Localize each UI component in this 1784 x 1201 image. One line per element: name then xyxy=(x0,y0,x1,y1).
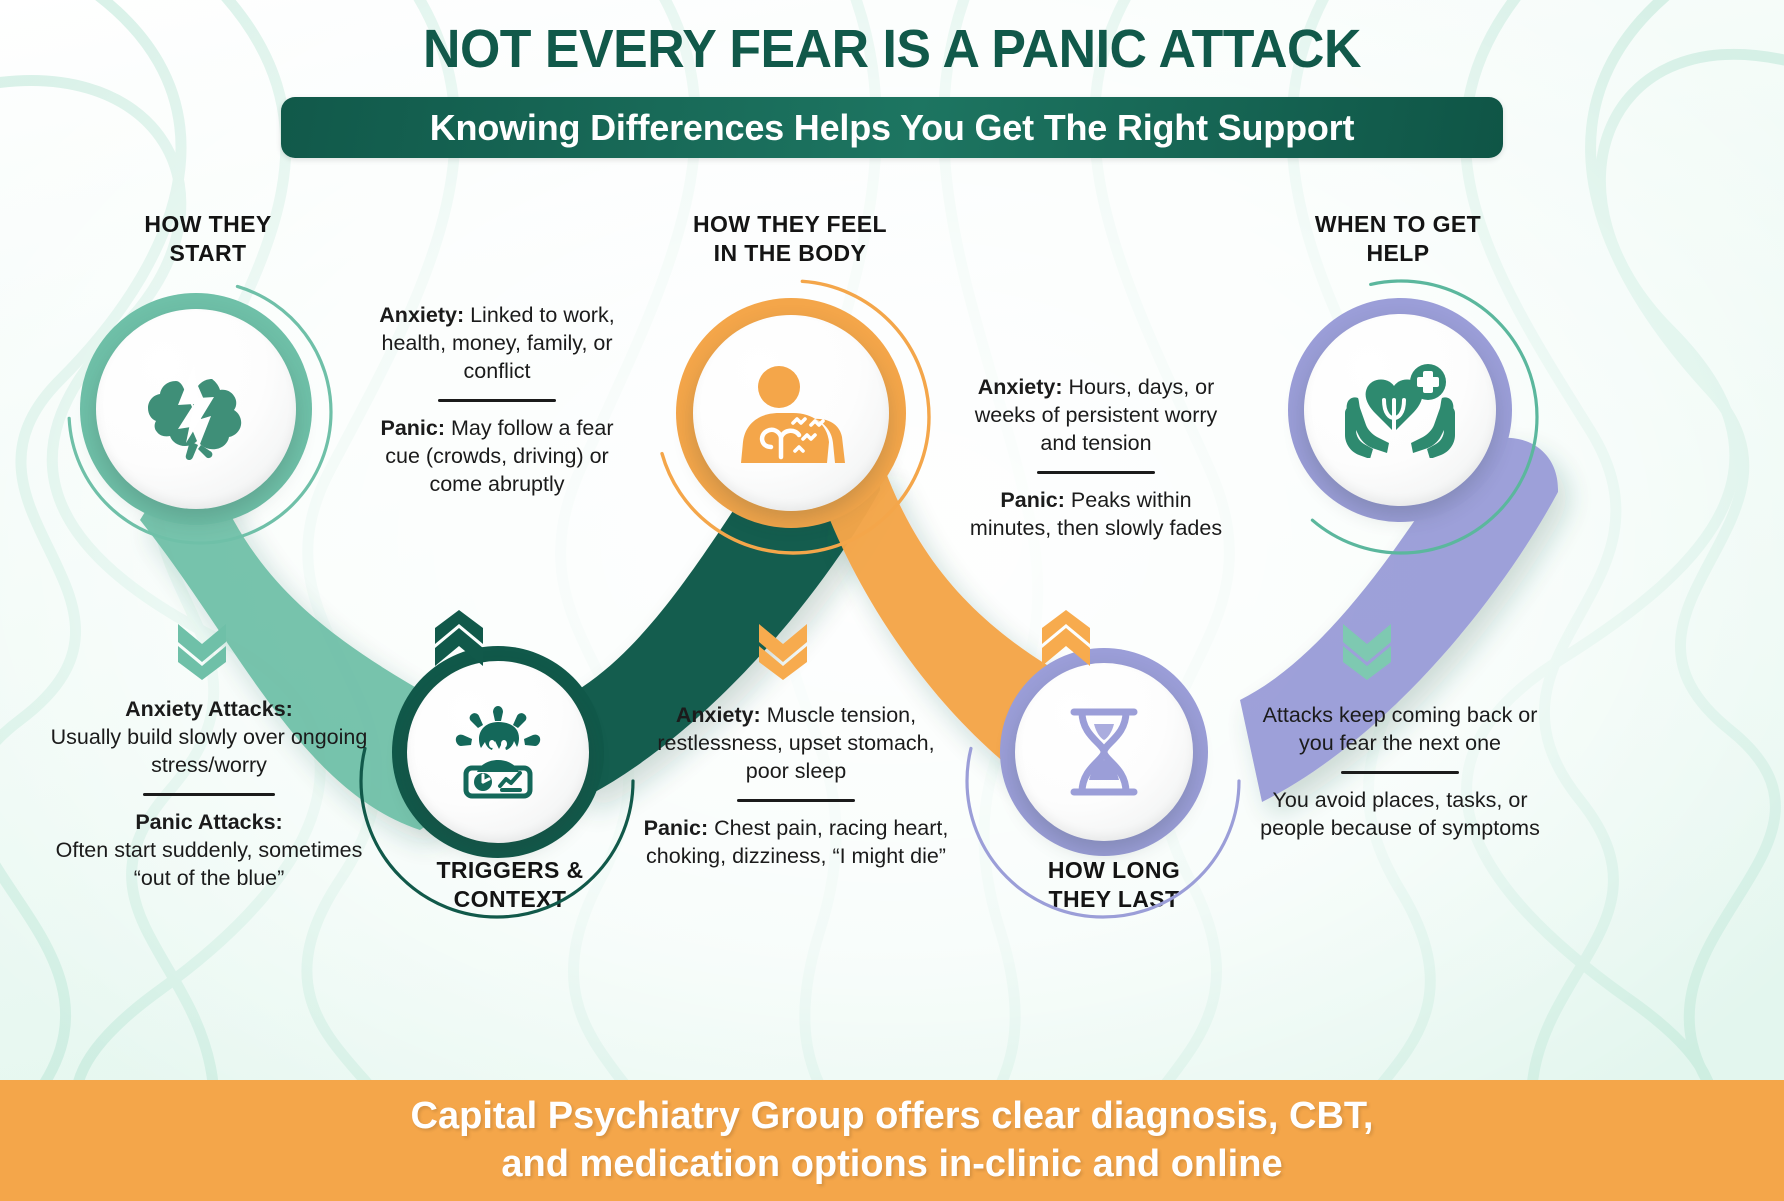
page-title: NOT EVERY FEAR IS A PANIC ATTACK xyxy=(36,18,1749,80)
divider-rule xyxy=(438,399,556,402)
footer-banner: Capital Psychiatry Group offers clear di… xyxy=(0,1080,1784,1201)
chevron-up-orange-icon xyxy=(1040,610,1092,675)
duration-panic-label: Panic: xyxy=(1000,488,1065,512)
text-block-duration: Anxiety: Hours, days, or weeks of persis… xyxy=(960,374,1232,543)
start-anxiety-paragraph: Anxiety Attacks: Usually build slowly ov… xyxy=(44,696,374,780)
section-heading-how-they-feel: HOW THEY FEEL IN THE BODY xyxy=(620,210,960,269)
divider-rule xyxy=(143,793,275,796)
triggers-panic-label: Panic: xyxy=(380,416,445,440)
help-line-1: Attacks keep coming back or you fear the… xyxy=(1250,702,1550,758)
body-panic-paragraph: Panic: Chest pain, racing heart, choking… xyxy=(636,815,956,871)
node-how-long-they-last[interactable] xyxy=(1000,648,1208,856)
chevron-down-teal-icon xyxy=(176,620,228,685)
start-panic-label: Panic Attacks: xyxy=(135,810,282,834)
body-anxiety-paragraph: Anxiety: Muscle tension, restlessness, u… xyxy=(636,702,956,786)
duration-anxiety-label: Anxiety: xyxy=(978,375,1063,399)
divider-rule xyxy=(737,799,855,802)
section-heading-how-long-they-last: HOW LONG THEY LAST xyxy=(944,856,1284,915)
triggers-anxiety-paragraph: Anxiety: Linked to work, health, money, … xyxy=(372,302,622,386)
footer-text: Capital Psychiatry Group offers clear di… xyxy=(411,1093,1374,1187)
body-anxiety-label: Anxiety: xyxy=(676,703,761,727)
text-block-when-to-get-help: Attacks keep coming back or you fear the… xyxy=(1250,702,1550,843)
section-heading-when-to-get-help: WHEN TO GET HELP xyxy=(1228,210,1568,269)
text-block-how-they-start: Anxiety Attacks: Usually build slowly ov… xyxy=(44,696,374,893)
start-anxiety-text: Usually build slowly over ongoing stress… xyxy=(51,725,368,777)
node-how-they-feel[interactable] xyxy=(676,298,906,528)
start-panic-text: Often start suddenly, sometimes “out of … xyxy=(56,838,363,890)
duration-anxiety-paragraph: Anxiety: Hours, days, or weeks of persis… xyxy=(960,374,1232,458)
divider-rule xyxy=(1037,471,1155,474)
section-heading-how-they-start: HOW THEY START xyxy=(38,210,378,269)
person-chest-symptoms-icon xyxy=(735,361,847,465)
divider-rule xyxy=(1341,771,1459,774)
text-block-body-symptoms: Anxiety: Muscle tension, restlessness, u… xyxy=(636,702,956,871)
subtitle-banner: Knowing Differences Helps You Get The Ri… xyxy=(281,97,1503,158)
node-when-to-get-help[interactable] xyxy=(1288,298,1512,522)
hands-heart-medical-icon xyxy=(1344,362,1456,458)
start-panic-paragraph: Panic Attacks: Often start suddenly, som… xyxy=(44,809,374,893)
hourglass-icon xyxy=(1058,702,1150,802)
chevron-up-darkgreen-icon xyxy=(433,610,485,675)
section-heading-triggers-context: TRIGGERS & CONTEXT xyxy=(340,856,680,915)
text-block-triggers-context: Anxiety: Linked to work, health, money, … xyxy=(372,302,622,499)
triggers-anxiety-label: Anxiety: xyxy=(379,303,464,327)
subtitle-text: Knowing Differences Helps You Get The Ri… xyxy=(430,107,1355,149)
node-how-they-start[interactable] xyxy=(80,293,312,525)
stressed-person-dashboard-icon xyxy=(446,700,550,804)
body-panic-label: Panic: xyxy=(644,816,709,840)
chevron-down-orange-icon xyxy=(757,620,809,685)
duration-panic-paragraph: Panic: Peaks within minutes, then slowly… xyxy=(960,487,1232,543)
brain-lightning-icon xyxy=(138,357,254,461)
help-line-2: You avoid places, tasks, or people becau… xyxy=(1250,787,1550,843)
start-anxiety-label: Anxiety Attacks: xyxy=(125,697,293,721)
triggers-panic-paragraph: Panic: May follow a fear cue (crowds, dr… xyxy=(372,415,622,499)
chevron-down-teal-right-icon xyxy=(1341,620,1393,685)
node-triggers-context[interactable] xyxy=(392,646,604,858)
